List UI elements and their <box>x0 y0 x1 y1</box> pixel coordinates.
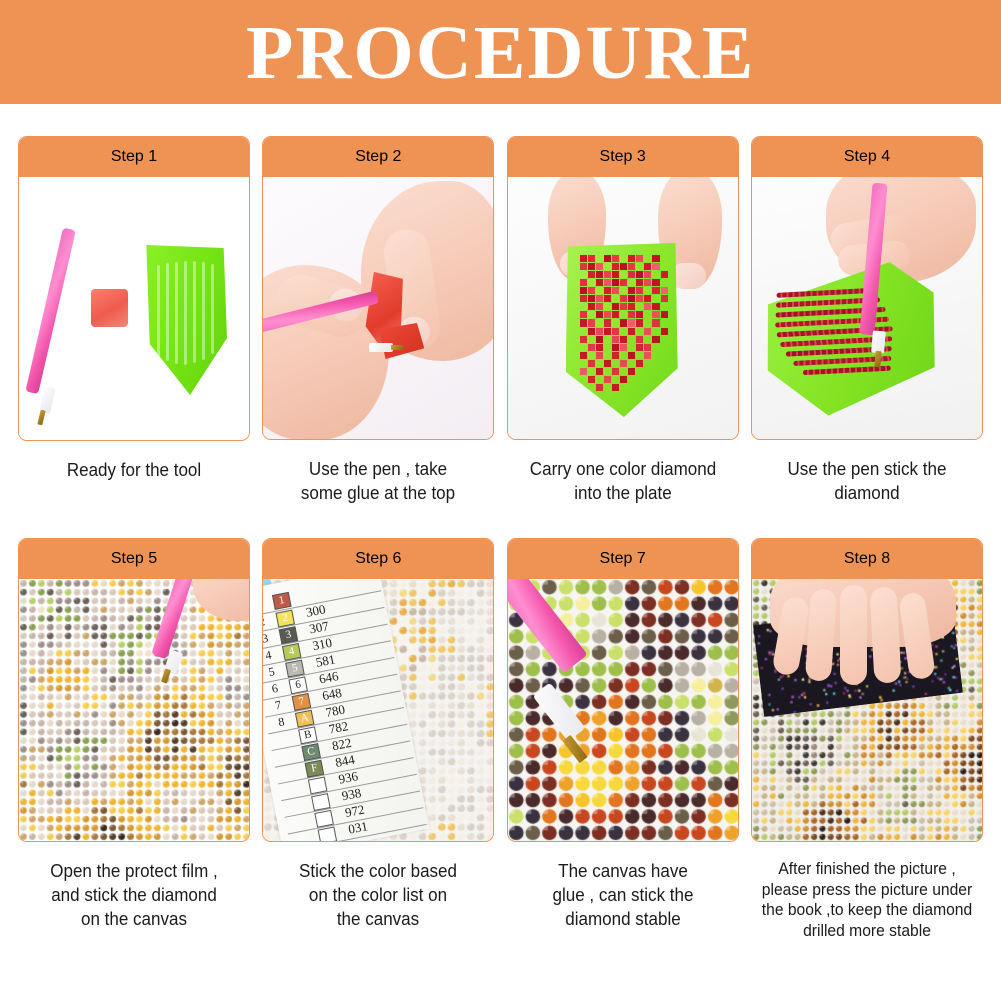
step-card-header-7: Step 7 <box>508 539 738 579</box>
step-card-4[interactable]: Step 4 <box>751 136 983 440</box>
page-title: PROCEDURE <box>246 15 755 91</box>
step-caption-5: Open the protect film , and stick the di… <box>27 859 240 930</box>
step-label-6: Step 6 <box>355 550 401 568</box>
diamond-rows-icon <box>772 273 928 406</box>
step-card-1[interactable]: Step 1 <box>18 136 250 441</box>
diamond-tray-icon <box>143 245 227 395</box>
step-label-3: Step 3 <box>600 148 646 166</box>
step-cell-7: Step 7 The canvas have glue , can stick … <box>507 538 739 930</box>
step-image-4 <box>752 177 982 439</box>
step-label-2: Step 2 <box>355 148 401 166</box>
step-cell-5: Step 5 <box>18 538 250 930</box>
step-caption-7: The canvas have glue , can stick the dia… <box>516 859 729 930</box>
step-card-6[interactable]: Step 6 112230033307443105558166646776488… <box>262 538 494 842</box>
step-cell-3: Step 3 <box>507 136 739 504</box>
steps-row-bottom: Step 5 <box>18 538 983 941</box>
step-image-1 <box>19 177 249 440</box>
step-cell-1: Step 1 <box>18 136 250 482</box>
step-image-3 <box>508 177 738 439</box>
step-label-8: Step 8 <box>844 550 890 568</box>
page-banner: PROCEDURE <box>0 0 1001 104</box>
step-card-header-1: Step 1 <box>19 137 249 177</box>
step-card-7[interactable]: Step 7 <box>507 538 739 842</box>
step-card-8[interactable]: Step 8 <box>751 538 983 842</box>
step-image-2 <box>263 177 493 439</box>
step-image-5 <box>19 579 249 841</box>
step-cell-6: Step 6 112230033307443105558166646776488… <box>262 538 494 930</box>
step-card-header-6: Step 6 <box>263 539 493 579</box>
color-chart-table: 112230033307443105558166646776488A780B78… <box>263 579 376 600</box>
step-image-8 <box>752 579 982 841</box>
steps-grid: Step 1 <box>0 136 1001 941</box>
step-card-5[interactable]: Step 5 <box>18 538 250 842</box>
step-caption-4: Use the pen stick the diamond <box>760 457 973 504</box>
step-label-1: Step 1 <box>111 148 157 166</box>
step-caption-3: Carry one color diamond into the plate <box>516 457 729 504</box>
chart-row-no <box>290 840 319 841</box>
step-image-7 <box>508 579 738 841</box>
step-image-6: 112230033307443105558166646776488A780B78… <box>263 579 493 841</box>
step-caption-1: Ready for the tool <box>27 458 240 482</box>
step-caption-2: Use the pen , take some glue at the top <box>272 457 485 504</box>
step-card-header-8: Step 8 <box>752 539 982 579</box>
step-card-header-4: Step 4 <box>752 137 982 177</box>
red-diamonds-icon <box>580 255 668 391</box>
step-card-header-2: Step 2 <box>263 137 493 177</box>
step-cell-8: Step 8 <box>751 538 983 941</box>
steps-row-top: Step 1 <box>18 136 983 504</box>
step-card-2[interactable]: Step 2 <box>262 136 494 440</box>
glue-square-icon <box>91 289 128 327</box>
step-card-3[interactable]: Step 3 <box>507 136 739 440</box>
step-label-4: Step 4 <box>844 148 890 166</box>
step-card-header-3: Step 3 <box>508 137 738 177</box>
step-card-header-5: Step 5 <box>19 539 249 579</box>
step-label-7: Step 7 <box>600 550 646 568</box>
step-caption-6: Stick the color based on the color list … <box>272 859 485 930</box>
step-caption-8: After finished the picture , please pres… <box>760 859 973 941</box>
step-label-5: Step 5 <box>111 550 157 568</box>
step-cell-4: Step 4 <box>751 136 983 504</box>
step-cell-2: Step 2 <box>262 136 494 504</box>
